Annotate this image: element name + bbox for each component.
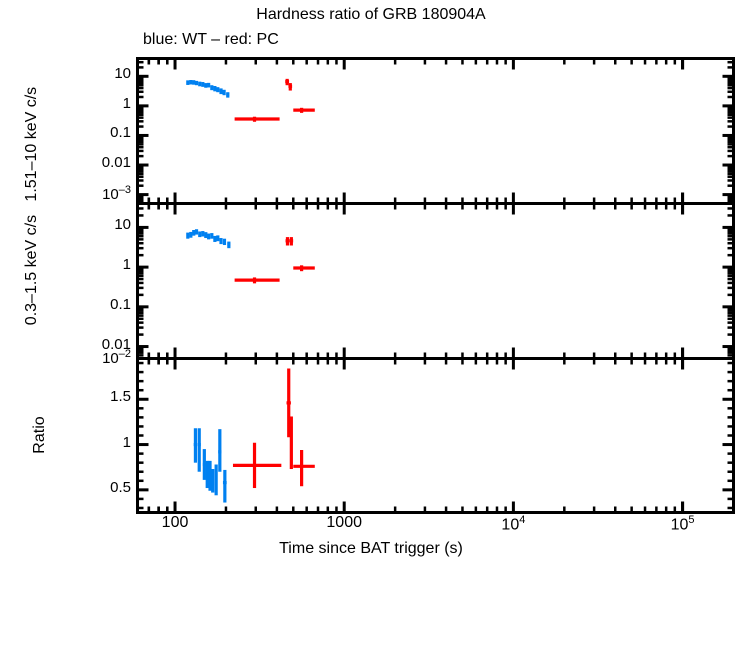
y-tick-label-top-3: 0.01: [55, 154, 131, 171]
y-axis-label-ratio: Ratio: [31, 225, 49, 645]
series-wt-panel-2: [194, 428, 227, 502]
x-tick-label-0: 100: [125, 514, 225, 532]
y-tick-label-ratio-0: 0.5: [55, 479, 131, 496]
series-wt-panel-1: [187, 229, 231, 248]
y-tick-label-mid-1: 1: [55, 256, 131, 273]
y-tick-label-top-4: 10–3: [55, 184, 131, 203]
panel-frame-2: [138, 359, 734, 513]
x-tick-label-3: 105: [633, 514, 733, 534]
y-tick-label-top-1: 1: [55, 95, 131, 112]
y-tick-label-ratio-2: 1.5: [55, 388, 131, 405]
series-pc-panel-1: [235, 237, 315, 283]
y-tick-label-mid-2: 0.1: [55, 296, 131, 313]
y-tick-label-top-2: 0.1: [55, 124, 131, 141]
figure-root: Hardness ratio of GRB 180904A blue: WT –…: [0, 0, 742, 566]
panel-frame-1: [138, 204, 734, 359]
series-wt-panel-0: [187, 80, 230, 98]
panel-frame-0: [138, 59, 734, 204]
y-tick-label-mid-4: 10–2: [55, 348, 131, 367]
x-tick-label-1: 1000: [294, 514, 394, 532]
y-tick-label-ratio-1: 1: [55, 434, 131, 451]
series-pc-panel-2: [233, 368, 315, 488]
y-tick-label-top-0: 10: [55, 65, 131, 82]
x-tick-label-2: 104: [463, 514, 563, 534]
y-tick-label-mid-0: 10: [55, 216, 131, 233]
series-pc-panel-0: [235, 79, 315, 122]
